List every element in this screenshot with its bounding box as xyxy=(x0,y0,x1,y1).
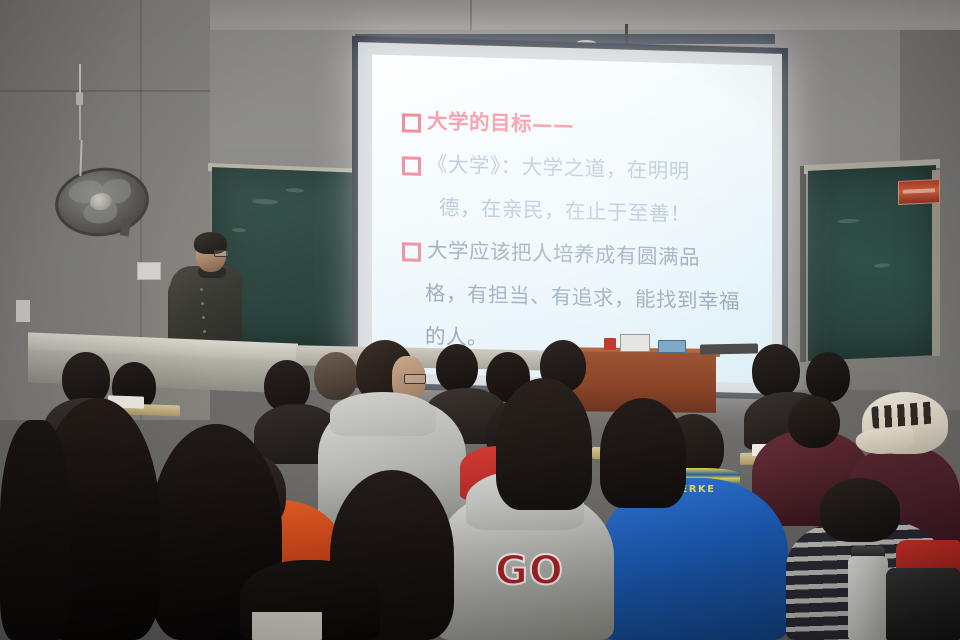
classroom-photo: 大学的目标—— 《大学》：大学之道，在明明 德，在亲民，在止于至善！ 大学应该把… xyxy=(0,0,960,640)
water-bottle xyxy=(848,556,888,640)
student-long-hair xyxy=(496,378,592,510)
student-head xyxy=(788,396,840,448)
student-long-hair xyxy=(0,420,70,640)
fan-cage-icon xyxy=(51,163,153,242)
board-eraser xyxy=(700,343,758,354)
notebook xyxy=(252,612,322,640)
student-head xyxy=(752,344,800,398)
student-head xyxy=(436,344,478,392)
slide-text: 《大学》：大学之道，在明明 xyxy=(427,143,690,193)
wall-fan xyxy=(55,168,143,234)
left-wall-seam-horizontal xyxy=(0,90,210,92)
student-glasses-icon xyxy=(404,374,426,384)
square-bullet-icon xyxy=(402,113,421,133)
slide-text: 德，在亲民，在止于至善！ xyxy=(439,186,691,236)
red-wall-sign xyxy=(898,179,940,205)
podium-item-red-marker xyxy=(604,338,616,350)
hoodie-graphic-text: GO xyxy=(495,548,557,594)
wall-switch[interactable] xyxy=(137,262,161,280)
square-bullet-icon xyxy=(402,156,421,176)
right-chalkboard-edge xyxy=(800,166,806,362)
slide-content: 大学的目标—— 《大学》：大学之道，在明明 德，在亲民，在止于至善！ 大学应该把… xyxy=(402,99,760,367)
student-head xyxy=(820,478,900,542)
square-bullet-icon xyxy=(402,242,421,262)
lecturer-glasses-icon xyxy=(214,250,229,257)
podium-item-blue-device xyxy=(658,340,686,353)
student-head xyxy=(314,352,358,400)
slide-text: 大学的目标—— xyxy=(427,100,574,147)
hoodie-hood xyxy=(330,392,436,436)
projection-screen-surface: 大学的目标—— 《大学》：大学之道，在明明 德，在亲民，在止于至善！ 大学应该把… xyxy=(372,54,772,383)
fan-cord-toggle[interactable] xyxy=(76,92,83,105)
slide-text: 大学应该把人培养成有圆满品 xyxy=(427,229,700,280)
podium-item-chalk-box xyxy=(620,334,650,352)
wall-plate xyxy=(16,300,30,322)
backpack xyxy=(886,568,960,640)
student-long-hair xyxy=(600,398,686,508)
